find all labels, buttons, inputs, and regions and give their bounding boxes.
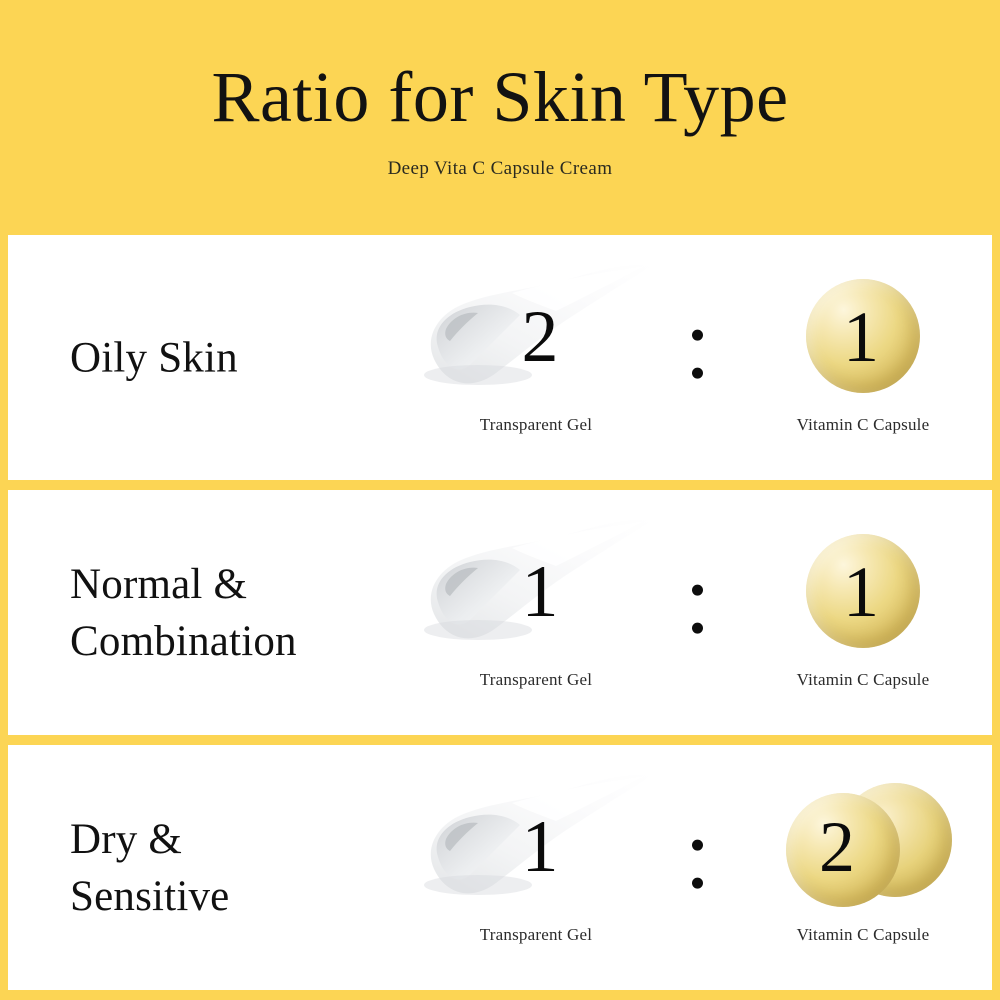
colon-dot-bottom — [692, 877, 703, 888]
ratio-card-list: Oily Skin — [0, 235, 1000, 998]
ratio-separator — [692, 839, 703, 888]
capsule-group: 1 Vitamin C Capsule — [758, 518, 968, 708]
ratio-separator — [692, 329, 703, 378]
colon-dot-top — [692, 584, 703, 595]
gel-ratio-value: 1 — [416, 773, 656, 921]
capsule-group: 1 Vitamin C Capsule — [758, 263, 968, 453]
gel-caption: Transparent Gel — [416, 415, 656, 435]
ratio-separator — [692, 584, 703, 633]
colon-dot-bottom — [692, 367, 703, 378]
colon-dot-bottom — [692, 622, 703, 633]
skin-type-label: Oily Skin — [70, 329, 238, 386]
gel-group: 1 Transparent Gel — [416, 773, 656, 963]
capsule-caption: Vitamin C Capsule — [743, 670, 983, 690]
skin-type-label: Normal & Combination — [70, 556, 297, 670]
capsule-ratio-value: 1 — [758, 518, 968, 666]
product-subtitle: Deep Vita C Capsule Cream — [388, 158, 613, 180]
gel-caption: Transparent Gel — [416, 670, 656, 690]
colon-dot-top — [692, 329, 703, 340]
ratio-row-dry-sensitive: Dry & Sensitive — [8, 745, 992, 990]
gel-group: 2 Transparent Gel — [416, 263, 656, 453]
ratio-row-oily-skin: Oily Skin — [8, 235, 992, 480]
capsule-ratio-value: 2 — [758, 773, 968, 921]
capsule-ratio-value: 1 — [758, 263, 968, 411]
capsule-caption: Vitamin C Capsule — [743, 925, 983, 945]
capsule-group: 2 Vitamin C Capsule — [758, 773, 968, 963]
gel-ratio-value: 1 — [416, 518, 656, 666]
capsule-caption: Vitamin C Capsule — [743, 415, 983, 435]
gel-group: 1 Transparent Gel — [416, 518, 656, 708]
header-banner: Ratio for Skin Type Deep Vita C Capsule … — [0, 0, 1000, 235]
skin-type-label: Dry & Sensitive — [70, 811, 229, 925]
page-title: Ratio for Skin Type — [211, 58, 788, 136]
gel-caption: Transparent Gel — [416, 925, 656, 945]
ratio-row-normal-combination: Normal & Combination — [8, 490, 992, 735]
gel-ratio-value: 2 — [416, 263, 656, 411]
colon-dot-top — [692, 839, 703, 850]
